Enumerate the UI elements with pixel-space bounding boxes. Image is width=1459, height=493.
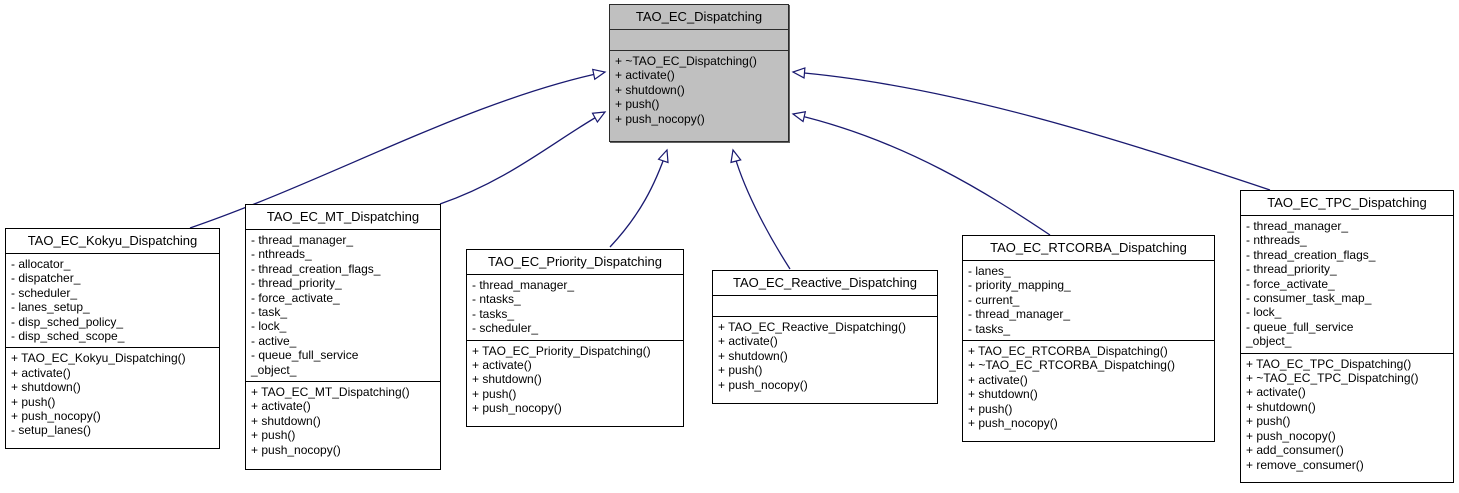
class-box-tao-ec-rtcorba-dispatching[interactable]: TAO_EC_RTCORBA_Dispatching - lanes_ - pr… — [962, 235, 1215, 442]
class-box-tao-ec-mt-dispatching[interactable]: TAO_EC_MT_Dispatching - thread_manager_ … — [245, 204, 441, 470]
attribute-row: - thread_priority_ — [1246, 262, 1448, 276]
class-box-tao-ec-kokyu-dispatching[interactable]: TAO_EC_Kokyu_Dispatching - allocator_ - … — [5, 228, 220, 449]
operation-row: + push_nocopy() — [718, 378, 932, 392]
edge-mt-to-root — [440, 112, 605, 204]
attribute-row: - priority_mapping_ — [968, 278, 1209, 292]
class-box-tao-ec-reactive-dispatching[interactable]: TAO_EC_Reactive_Dispatching + TAO_EC_Rea… — [712, 270, 938, 404]
operation-row: + push() — [251, 428, 435, 442]
operation-row: + push_nocopy() — [615, 112, 783, 126]
attribute-row: - force_activate_ — [251, 291, 435, 305]
operation-row: + activate() — [1246, 385, 1448, 399]
attribute-row: - scheduler_ — [472, 321, 678, 335]
operation-row: + shutdown() — [472, 372, 678, 386]
operation-row: + push() — [1246, 414, 1448, 428]
operation-row: + shutdown() — [11, 380, 214, 394]
attribute-row: - thread_manager_ — [472, 278, 678, 292]
operation-row: + add_consumer() — [1246, 443, 1448, 457]
operation-row: - setup_lanes() — [11, 423, 214, 437]
attribute-row: - thread_manager_ — [968, 307, 1209, 321]
class-operations: + TAO_EC_Reactive_Dispatching() + activa… — [713, 317, 937, 396]
operation-row: + push() — [615, 97, 783, 111]
attribute-row: - thread_creation_flags_ — [251, 262, 435, 276]
class-attributes — [713, 296, 937, 316]
attribute-row: - lock_ — [251, 319, 435, 333]
attribute-row: - disp_sched_scope_ — [11, 329, 214, 343]
operation-row: + push() — [11, 395, 214, 409]
attribute-row: - lanes_ — [968, 264, 1209, 278]
operation-row: + shutdown() — [718, 349, 932, 363]
attribute-row: - lanes_setup_ — [11, 300, 214, 314]
class-operations: + TAO_EC_Priority_Dispatching() + activa… — [467, 341, 683, 420]
attribute-row: - thread_manager_ — [1246, 219, 1448, 233]
operation-row: + TAO_EC_Kokyu_Dispatching() — [11, 351, 214, 365]
attribute-row: - current_ — [968, 293, 1209, 307]
class-box-tao-ec-tpc-dispatching[interactable]: TAO_EC_TPC_Dispatching - thread_manager_… — [1240, 190, 1454, 483]
operation-row: + activate() — [968, 373, 1209, 387]
edge-tpc-to-root — [793, 72, 1270, 190]
attribute-row: - tasks_ — [968, 322, 1209, 336]
operation-row: + activate() — [11, 366, 214, 380]
attribute-row: - lock_ — [1246, 305, 1448, 319]
class-operations: + ~TAO_EC_Dispatching() + activate() + s… — [610, 51, 788, 130]
operation-row: + push() — [472, 387, 678, 401]
class-attributes: - thread_manager_ - nthreads_ - thread_c… — [246, 230, 440, 381]
operation-row: + TAO_EC_MT_Dispatching() — [251, 385, 435, 399]
attribute-row: - queue_full_service — [251, 348, 435, 362]
class-operations: + TAO_EC_MT_Dispatching() + activate() +… — [246, 382, 440, 461]
operation-row: + activate() — [472, 358, 678, 372]
class-box-tao-ec-dispatching[interactable]: TAO_EC_Dispatching + ~TAO_EC_Dispatching… — [609, 4, 789, 142]
operation-row: + ~TAO_EC_RTCORBA_Dispatching() — [968, 358, 1209, 372]
class-title: TAO_EC_Kokyu_Dispatching — [6, 229, 219, 253]
operation-row: + TAO_EC_RTCORBA_Dispatching() — [968, 344, 1209, 358]
operation-row: + push() — [718, 363, 932, 377]
attribute-row: - force_activate_ — [1246, 277, 1448, 291]
class-title: TAO_EC_Priority_Dispatching — [467, 250, 683, 274]
class-diagram-canvas: TAO_EC_Dispatching + ~TAO_EC_Dispatching… — [0, 0, 1459, 493]
operation-row: + shutdown() — [251, 414, 435, 428]
attribute-row: - nthreads_ — [1246, 233, 1448, 247]
attribute-row: - thread_priority_ — [251, 276, 435, 290]
class-attributes: - allocator_ - dispatcher_ - scheduler_ … — [6, 254, 219, 347]
operation-row: + TAO_EC_Priority_Dispatching() — [472, 344, 678, 358]
operation-row: + activate() — [718, 334, 932, 348]
class-title: TAO_EC_MT_Dispatching — [246, 205, 440, 229]
attribute-row: - dispatcher_ — [11, 271, 214, 285]
class-title: TAO_EC_Reactive_Dispatching — [713, 271, 937, 295]
class-title: TAO_EC_Dispatching — [610, 5, 788, 29]
class-box-tao-ec-priority-dispatching[interactable]: TAO_EC_Priority_Dispatching - thread_man… — [466, 249, 684, 427]
attribute-row: - consumer_task_map_ — [1246, 291, 1448, 305]
attribute-row: - ntasks_ — [472, 292, 678, 306]
attribute-row: - thread_manager_ — [251, 233, 435, 247]
operation-row: + push_nocopy() — [968, 416, 1209, 430]
operation-row: + push_nocopy() — [472, 401, 678, 415]
class-operations: + TAO_EC_TPC_Dispatching() + ~TAO_EC_TPC… — [1241, 354, 1453, 476]
operation-row: + activate() — [615, 68, 783, 82]
operation-row: + shutdown() — [1246, 400, 1448, 414]
class-operations: + TAO_EC_RTCORBA_Dispatching() + ~TAO_EC… — [963, 341, 1214, 434]
edge-reactive-to-root — [733, 150, 790, 269]
operation-row: + shutdown() — [968, 387, 1209, 401]
edge-priority-to-root — [610, 150, 667, 247]
attribute-row: - scheduler_ — [11, 286, 214, 300]
operation-row: + push_nocopy() — [251, 443, 435, 457]
attribute-row: - disp_sched_policy_ — [11, 315, 214, 329]
attribute-row: - thread_creation_flags_ — [1246, 248, 1448, 262]
class-attributes: - thread_manager_ - ntasks_ - tasks_ - s… — [467, 275, 683, 340]
operation-row: + push_nocopy() — [1246, 429, 1448, 443]
attribute-row: _object_ — [251, 363, 435, 377]
class-title: TAO_EC_RTCORBA_Dispatching — [963, 236, 1214, 260]
operation-row: + ~TAO_EC_Dispatching() — [615, 54, 783, 68]
class-title: TAO_EC_TPC_Dispatching — [1241, 191, 1453, 215]
operation-row: + TAO_EC_Reactive_Dispatching() — [718, 320, 932, 334]
attribute-row: - active_ — [251, 334, 435, 348]
operation-row: + ~TAO_EC_TPC_Dispatching() — [1246, 371, 1448, 385]
operation-row: + TAO_EC_TPC_Dispatching() — [1246, 357, 1448, 371]
operation-row: + push_nocopy() — [11, 409, 214, 423]
operation-row: + activate() — [251, 399, 435, 413]
attribute-row: - allocator_ — [11, 257, 214, 271]
attribute-row: - task_ — [251, 305, 435, 319]
class-attributes: - lanes_ - priority_mapping_ - current_ … — [963, 261, 1214, 340]
attribute-row: _object_ — [1246, 334, 1448, 348]
attribute-row: - tasks_ — [472, 307, 678, 321]
attribute-row: - queue_full_service — [1246, 320, 1448, 334]
operation-row: + remove_consumer() — [1246, 458, 1448, 472]
operation-row: + push() — [968, 402, 1209, 416]
class-attributes — [610, 30, 788, 50]
edge-rtcorba-to-root — [793, 114, 1050, 235]
class-operations: + TAO_EC_Kokyu_Dispatching() + activate(… — [6, 348, 219, 441]
operation-row: + shutdown() — [615, 83, 783, 97]
class-attributes: - thread_manager_ - nthreads_ - thread_c… — [1241, 216, 1453, 353]
attribute-row: - nthreads_ — [251, 247, 435, 261]
